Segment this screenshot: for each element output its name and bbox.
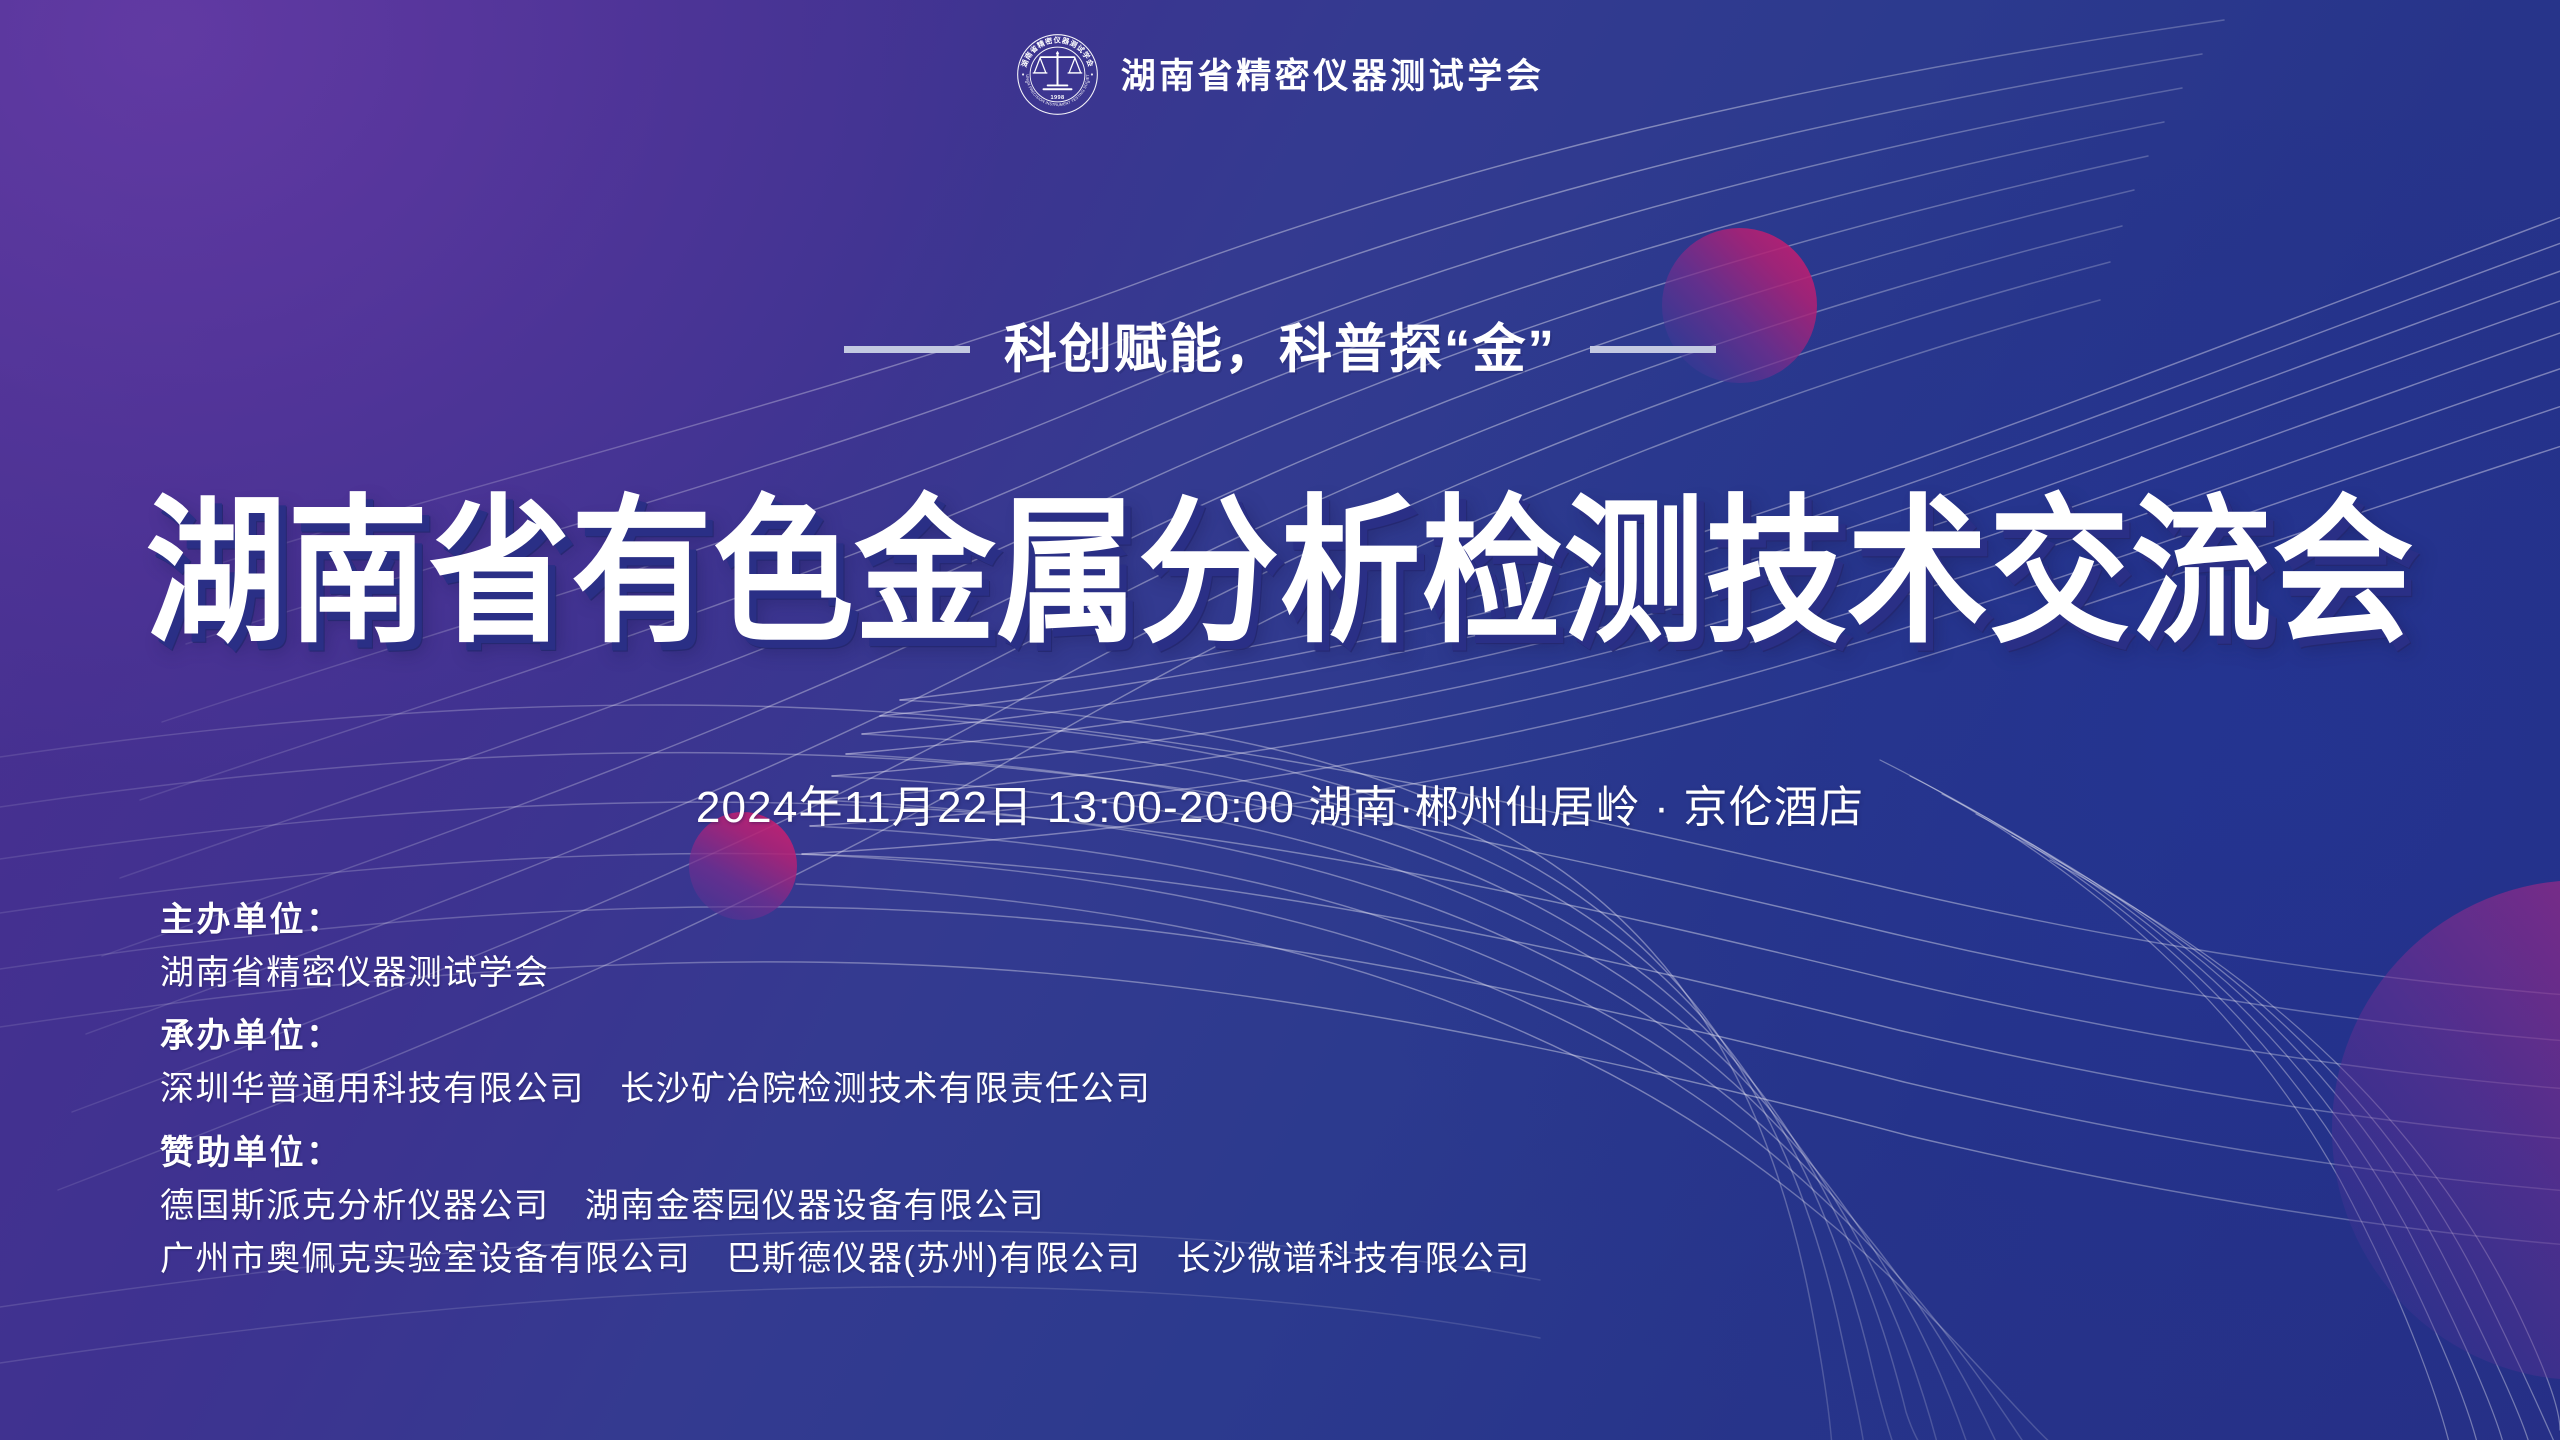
organizer-label-coorganizer: 承办单位： bbox=[160, 1014, 1531, 1059]
subtitle-rule-left bbox=[844, 346, 970, 353]
organizer-value-sponsor-1: 广州市奥佩克实验室设备有限公司 巴斯德仪器(苏州)有限公司 长沙微谱科技有限公司 bbox=[160, 1237, 1531, 1283]
organizer-block: 主办单位： 湖南省精密仪器测试学会 承办单位： 深圳华普通用科技有限公司 长沙矿… bbox=[160, 898, 1531, 1283]
purple-glow-decoration bbox=[0, 0, 1140, 880]
event-datetime-venue: 2024年11月22日 13:00-20:00 湖南·郴州仙居岭 · 京伦酒店 bbox=[0, 771, 2560, 835]
subtitle-row: 科创赋能，科普探“金” bbox=[0, 322, 2560, 378]
balance-scale-icon: 湖南省精密仪器测试学会 HUNAN PRECISION INSTRUMENT T… bbox=[1016, 33, 1099, 116]
society-wordmark: 湖南省精密仪器测试学会 bbox=[1121, 59, 1545, 94]
main-title-wrapper: 湖南省有色金属分析检测技术交流会 bbox=[0, 488, 2560, 634]
svg-text:1998: 1998 bbox=[1050, 95, 1064, 101]
organizer-value-coorganizer-0: 深圳华普通用科技有限公司 长沙矿冶院检测技术有限责任公司 bbox=[160, 1067, 1531, 1113]
subtitle-rule-right bbox=[1590, 346, 1716, 353]
magenta-circle-right-large bbox=[2332, 880, 2560, 1380]
organizer-label-sponsor: 赞助单位： bbox=[160, 1131, 1531, 1176]
page-title: 湖南省有色金属分析检测技术交流会 bbox=[146, 488, 2415, 658]
subtitle-text: 科创赋能，科普探“金” bbox=[1004, 322, 1556, 378]
organizer-value-host-0: 湖南省精密仪器测试学会 bbox=[160, 951, 1531, 997]
organizer-label-host: 主办单位： bbox=[160, 898, 1531, 943]
society-logo-lockup: 湖南省精密仪器测试学会 HUNAN PRECISION INSTRUMENT T… bbox=[0, 33, 2560, 116]
organizer-value-sponsor-0: 德国斯派克分析仪器公司 湖南金蓉园仪器设备有限公司 bbox=[160, 1184, 1531, 1230]
event-banner: 湖南省精密仪器测试学会 HUNAN PRECISION INSTRUMENT T… bbox=[0, 0, 2560, 1440]
